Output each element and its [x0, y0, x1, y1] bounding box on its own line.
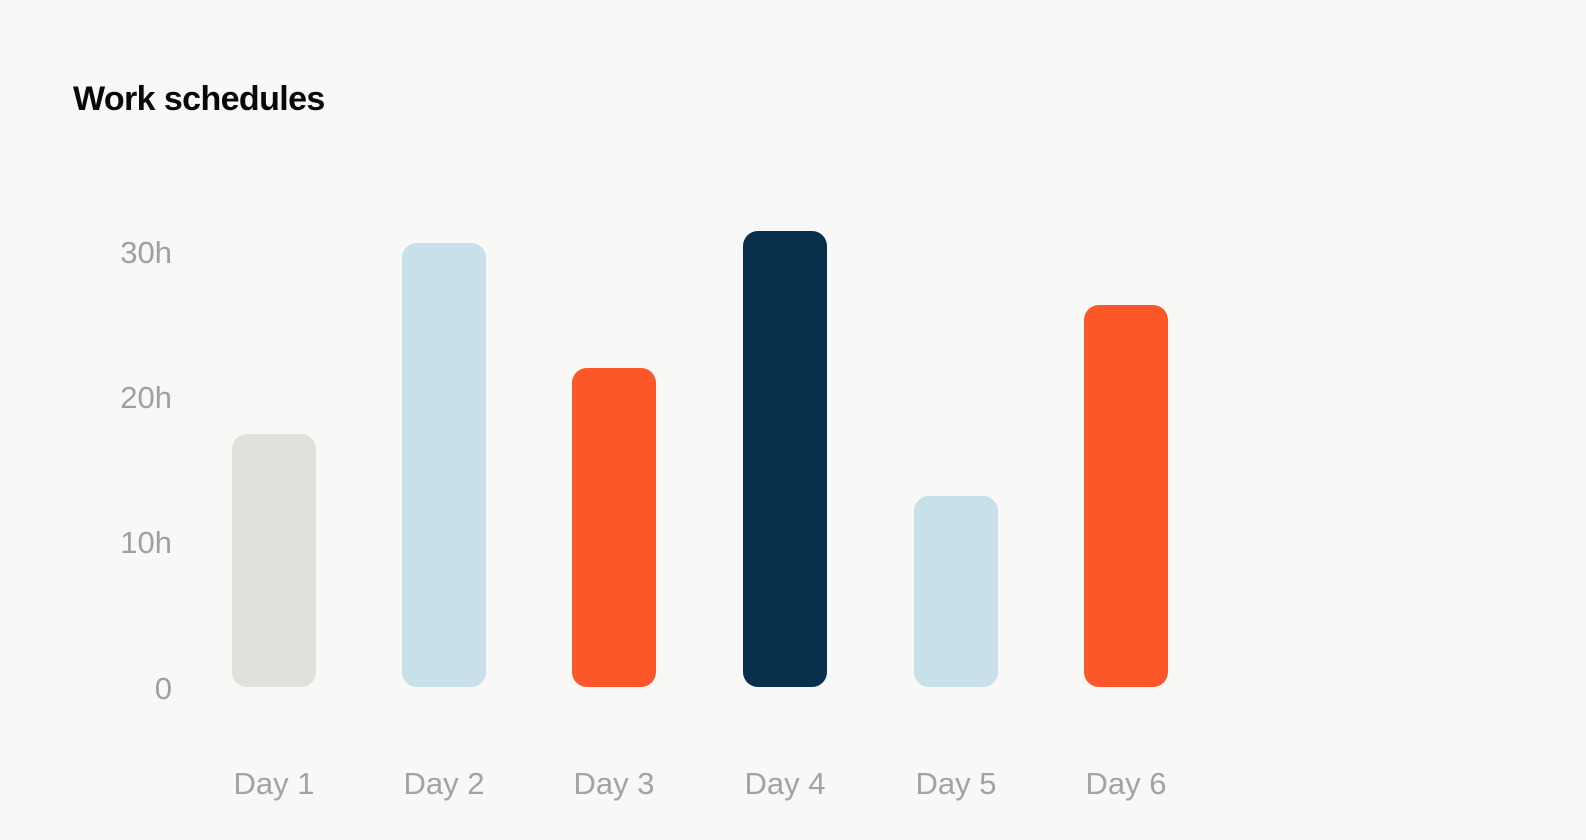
- y-axis-tick-30h: 30h: [52, 237, 172, 268]
- bar-group-day-4[interactable]: Day 4: [743, 0, 913, 840]
- y-axis-tick-0: 0: [52, 673, 172, 704]
- x-axis-tick-day-2: Day 2: [402, 766, 486, 802]
- bar-group-day-3[interactable]: Day 3: [572, 0, 742, 840]
- bar-group-day-2[interactable]: Day 2: [402, 0, 572, 840]
- bar-group-day-6[interactable]: Day 6: [1084, 0, 1254, 840]
- x-axis-tick-day-5: Day 5: [914, 766, 998, 802]
- x-axis-tick-day-6: Day 6: [1084, 766, 1168, 802]
- x-axis-tick-day-3: Day 3: [572, 766, 656, 802]
- x-axis-tick-day-1: Day 1: [232, 766, 316, 802]
- chart-plot-area: 30h 20h 10h 0 Day 1 Day 2 Day 3 Day 4: [0, 0, 1586, 840]
- bar-group-day-1[interactable]: Day 1: [232, 0, 402, 840]
- bar-group-day-5[interactable]: Day 5: [914, 0, 1084, 840]
- bar-day-6[interactable]: [1084, 305, 1168, 687]
- work-schedules-chart-card: Work schedules 30h 20h 10h 0 Day 1 Day 2…: [0, 0, 1586, 840]
- y-axis-tick-10h: 10h: [52, 527, 172, 558]
- bars-layer: Day 1 Day 2 Day 3 Day 4 Day 5 Day 6: [232, 0, 1252, 840]
- bar-day-2[interactable]: [402, 243, 486, 687]
- bar-day-4[interactable]: [743, 231, 827, 687]
- y-axis-tick-20h: 20h: [52, 382, 172, 413]
- bar-day-1[interactable]: [232, 434, 316, 687]
- x-axis-tick-day-4: Day 4: [743, 766, 827, 802]
- bar-day-3[interactable]: [572, 368, 656, 687]
- bar-day-5[interactable]: [914, 496, 998, 687]
